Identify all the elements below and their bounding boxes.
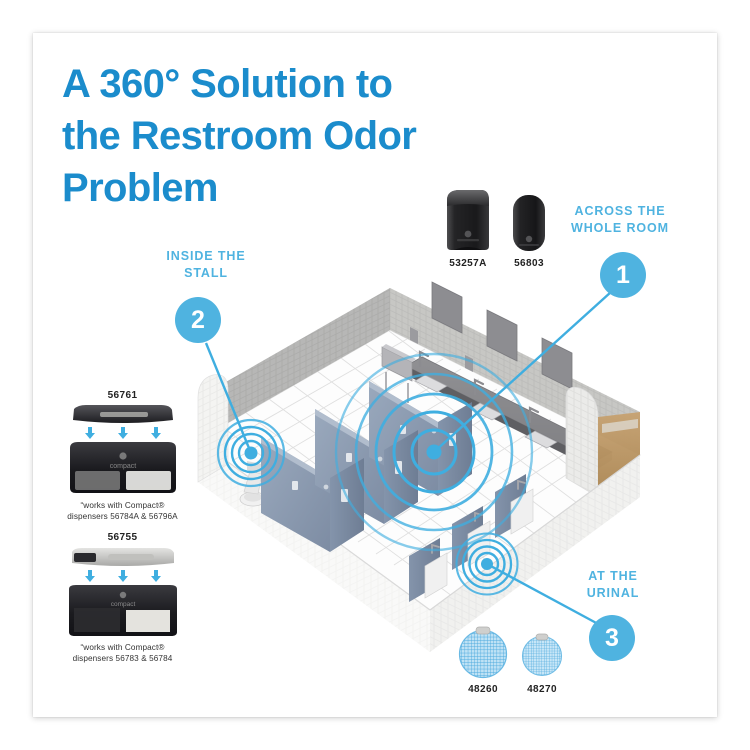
connector-line-1: [434, 292, 611, 452]
ripple-whole-room: [336, 354, 532, 550]
scent-ripples-and-connectors: [0, 0, 750, 750]
marker-3[interactable]: 3: [589, 615, 635, 661]
marker-2-number: 2: [191, 308, 205, 333]
ripple-urinal: [457, 534, 518, 595]
ripple-stall: [218, 420, 284, 486]
marker-1[interactable]: 1: [600, 252, 646, 298]
marker-1-number: 1: [616, 263, 630, 288]
marker-2[interactable]: 2: [175, 297, 221, 343]
marker-3-number: 3: [605, 626, 619, 651]
poster-canvas: A 360° Solution to the Restroom Odor Pro…: [0, 0, 750, 750]
connector-line-3: [487, 564, 600, 625]
